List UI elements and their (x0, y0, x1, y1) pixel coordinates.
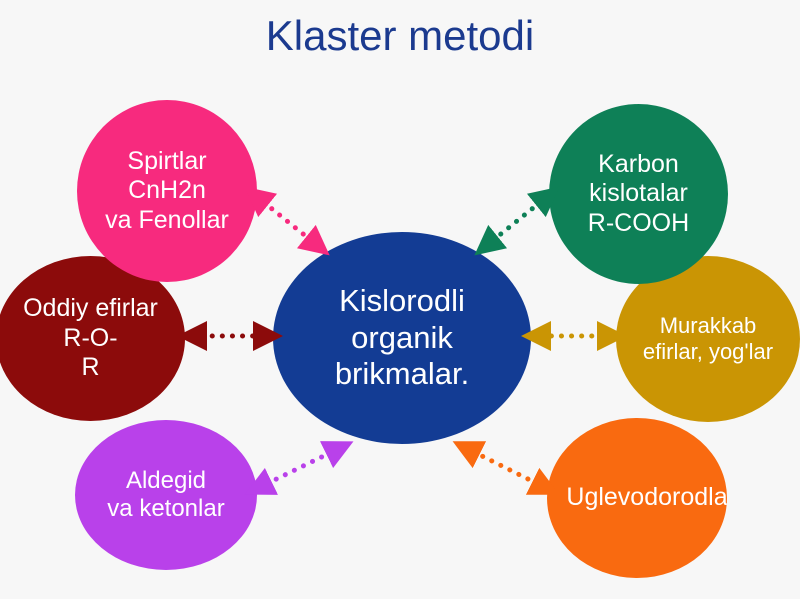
node-karbon-kislotalar[interactable]: Karbon kislotalar R-COOH (549, 104, 728, 284)
connector-aldegid (258, 448, 340, 488)
node-karbon-kislotalar-label: Karbon kislotalar R-COOH (586, 150, 691, 239)
node-uglevodorodlar-label: Uglevodorodla (564, 483, 727, 513)
node-uglevodorodlar[interactable]: Uglevodorodla (547, 418, 727, 578)
node-murakkab-efirlar-label: Murakkab efirlar, yog'lar (641, 313, 775, 365)
page-title: Klaster metodi (0, 12, 800, 60)
node-aldegid-ketonlar[interactable]: Aldegid va ketonlar (75, 420, 257, 570)
connector-uglevodorodlar (466, 448, 546, 488)
connector-karbon (486, 196, 548, 246)
node-center-kislorodli[interactable]: Kislorodli organik brikmalar. (273, 232, 531, 444)
node-spirtlar[interactable]: Spirtlar CnH2n va Fenollar (77, 100, 257, 282)
connector-spirtlar (256, 196, 318, 246)
node-center-label: Kislorodli organik brikmalar. (333, 283, 471, 393)
node-oddiy-efirlar-label: Oddiy efirlar R-O- R (21, 294, 160, 383)
diagram-canvas: Klaster metodi (0, 0, 800, 599)
node-aldegid-ketonlar-label: Aldegid va ketonlar (105, 467, 226, 524)
node-spirtlar-label: Spirtlar CnH2n va Fenollar (103, 147, 231, 236)
